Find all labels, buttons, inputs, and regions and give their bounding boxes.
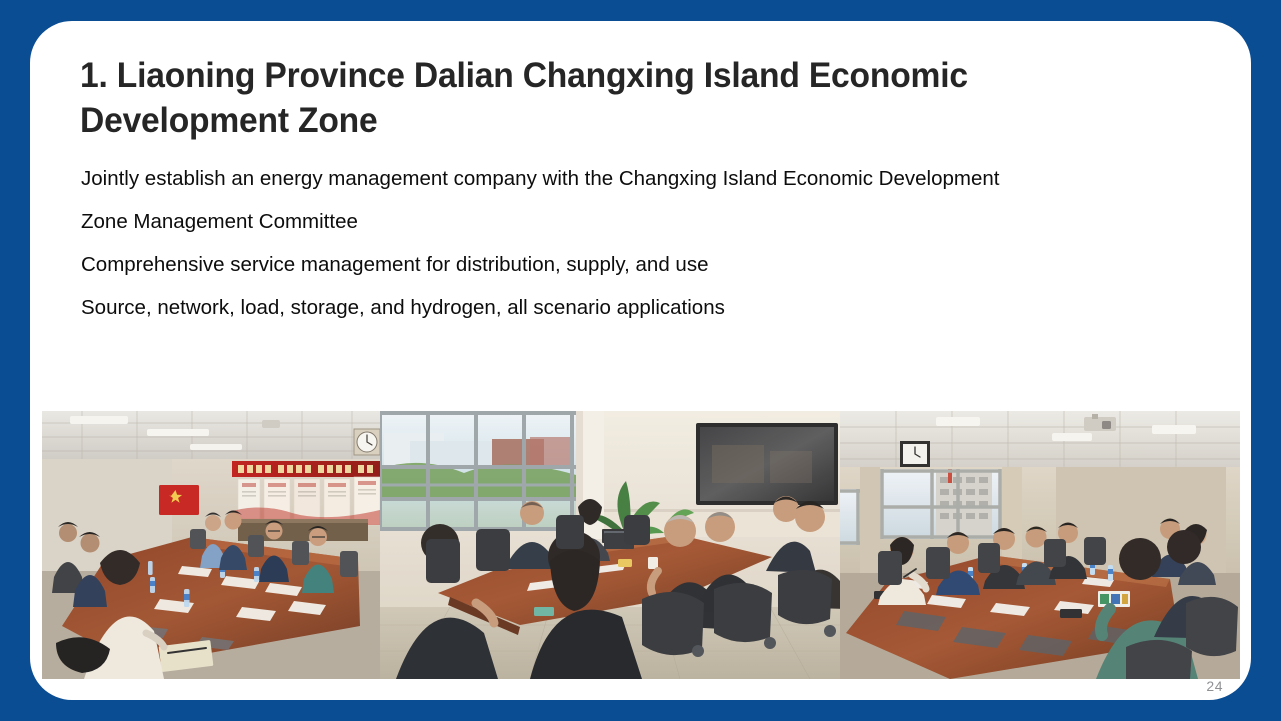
slide-content-card: 1. Liaoning Province Dalian Changxing Is… — [30, 21, 1251, 700]
body-line: Comprehensive service management for dis… — [81, 243, 1211, 286]
photo-strip — [30, 411, 1251, 700]
photo-meeting-room-clock-projector — [840, 411, 1240, 679]
body-line: Jointly establish an energy management c… — [81, 157, 1211, 200]
photo-meeting-room-party-banner — [42, 411, 384, 679]
body-line: Source, network, load, storage, and hydr… — [81, 286, 1211, 329]
page-number: 24 — [1206, 678, 1223, 694]
body-text-block: Jointly establish an energy management c… — [81, 157, 1211, 329]
body-line: Zone Management Committee — [81, 200, 1211, 243]
page-title: 1. Liaoning Province Dalian Changxing Is… — [80, 53, 1078, 143]
photo-meeting-room-bright-windows — [380, 411, 842, 679]
slide-frame: 1. Liaoning Province Dalian Changxing Is… — [0, 0, 1281, 721]
